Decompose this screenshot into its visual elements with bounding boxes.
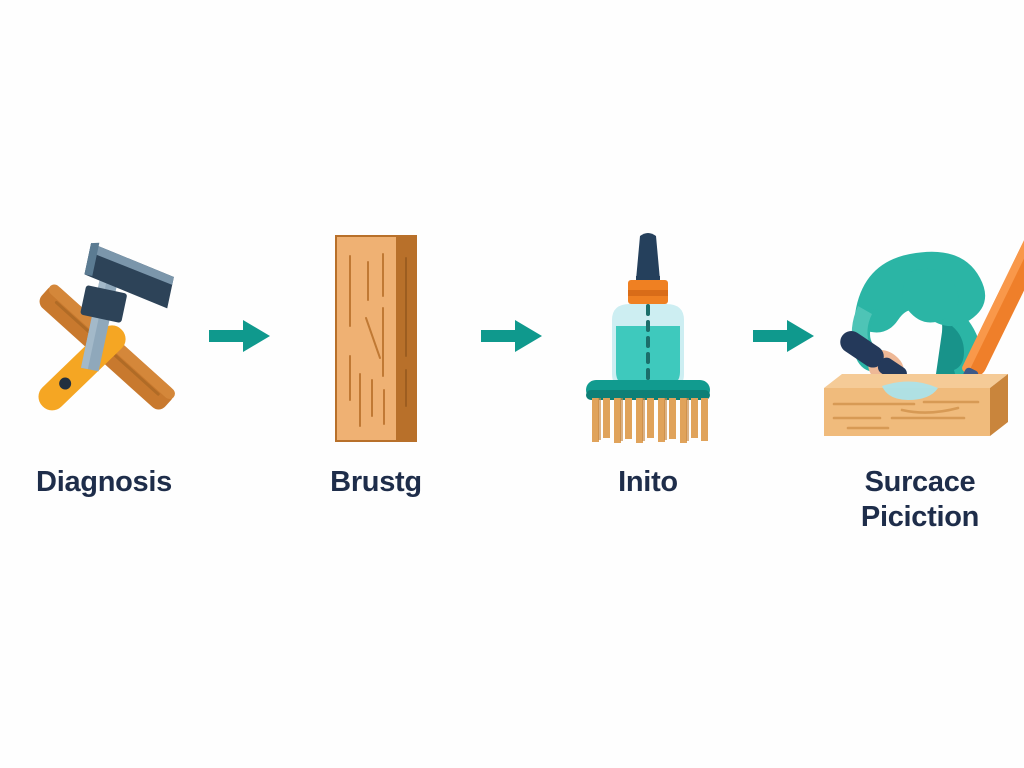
arrow-connector-2 (472, 228, 552, 443)
hammer-and-ruler-icon (8, 228, 200, 443)
worker-applying-finish-icon (824, 228, 1016, 443)
process-step-4[interactable]: Surcace Piciction (824, 228, 1016, 536)
process-step-4-label: Surcace Piciction (815, 465, 1024, 536)
arrow-right-icon (481, 319, 543, 353)
glue-bottle-and-brush-icon (552, 228, 744, 443)
diagram-canvas: Diagnosis (0, 0, 1024, 768)
process-step-2[interactable]: Brustg (280, 228, 472, 500)
arrow-right-icon (209, 319, 271, 353)
arrow-connector-3 (744, 228, 824, 443)
process-flow: Diagnosis (0, 228, 1024, 536)
process-step-3-label: Inito (543, 465, 753, 500)
process-step-3[interactable]: Inito (552, 228, 744, 500)
arrow-right-icon (753, 319, 815, 353)
process-step-2-label: Brustg (271, 465, 481, 500)
process-step-1-label: Diagnosis (0, 465, 209, 500)
wood-plank-icon (280, 228, 472, 443)
process-step-4-label-line1: Surcace (865, 466, 976, 498)
process-step-4-label-line2: Piciction (861, 501, 979, 533)
arrow-connector-1 (200, 228, 280, 443)
process-step-1[interactable]: Diagnosis (8, 228, 200, 500)
